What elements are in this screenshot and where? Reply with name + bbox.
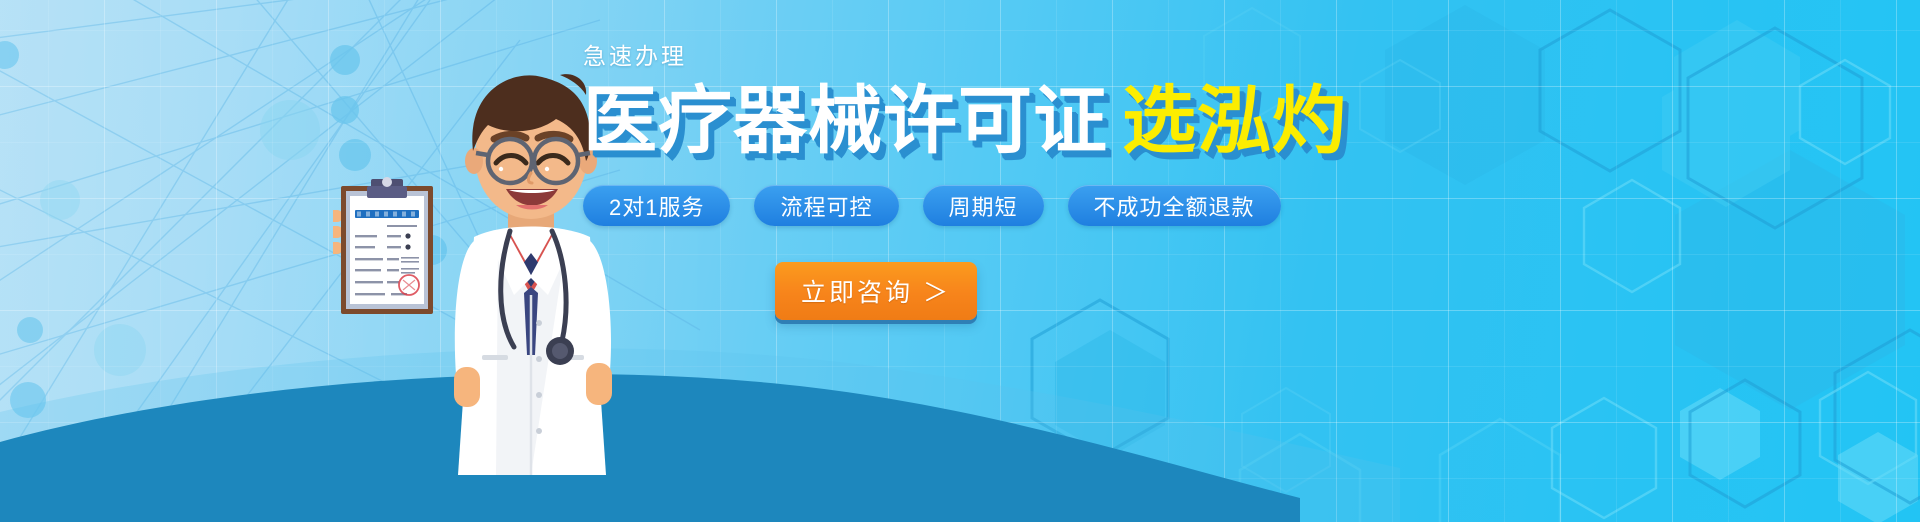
headline-accent: 选泓灼	[1122, 79, 1347, 162]
wave-shape	[0, 332, 1300, 522]
headline-primary: 医疗器械许可证	[583, 79, 1108, 162]
feature-tag-list: 2对1服务 流程可控 周期短 不成功全额退款	[583, 185, 1343, 226]
feature-tag-2[interactable]: 流程可控	[754, 185, 898, 226]
feature-tag-3[interactable]: 周期短	[923, 185, 1044, 226]
feature-tag-4[interactable]: 不成功全额退款	[1068, 185, 1281, 226]
promo-banner: 急速办理 医疗器械许可证选泓灼 2对1服务 流程可控 周期短 不成功全额退款 立…	[0, 0, 1920, 522]
headline: 医疗器械许可证选泓灼	[583, 81, 1343, 161]
cta-container: 立即咨询 ＞	[583, 262, 1343, 320]
banner-copy: 急速办理 医疗器械许可证选泓灼 2对1服务 流程可控 周期短 不成功全额退款 立…	[583, 44, 1343, 320]
consult-now-button[interactable]: 立即咨询 ＞	[775, 262, 977, 320]
feature-tag-1[interactable]: 2对1服务	[583, 185, 730, 226]
eyebrow-text: 急速办理	[583, 44, 1343, 69]
